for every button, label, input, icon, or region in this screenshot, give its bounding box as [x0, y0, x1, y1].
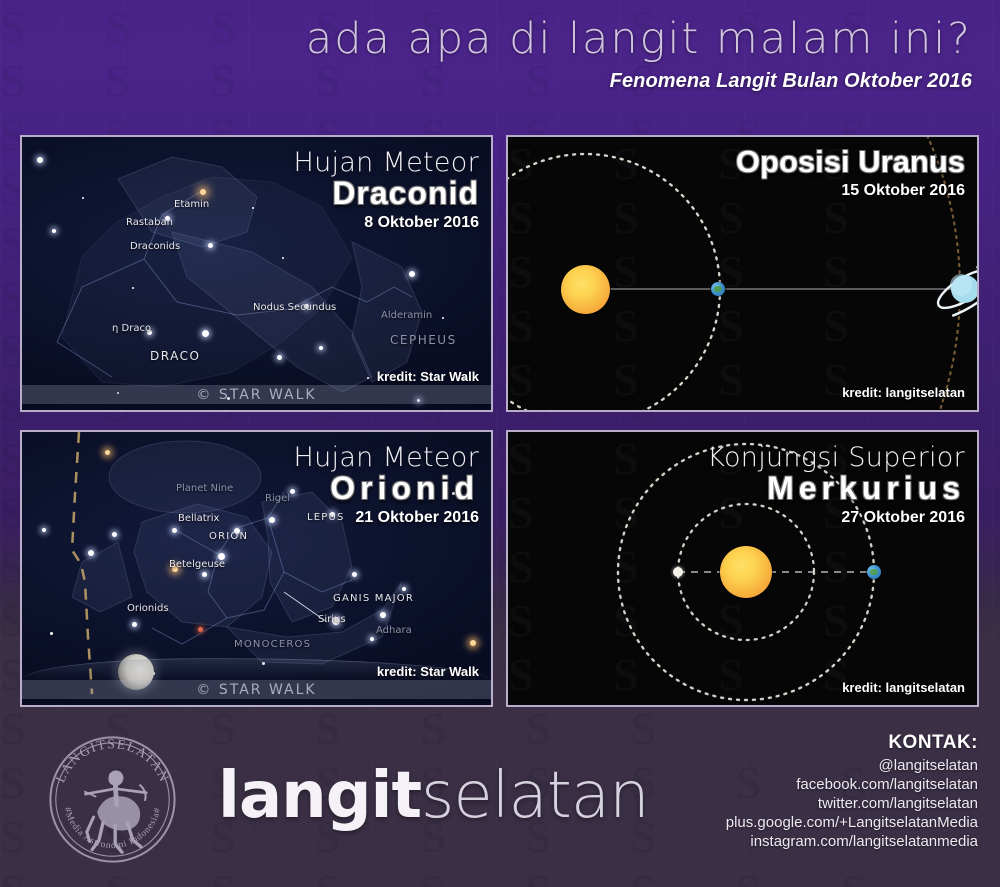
panel-orionid[interactable]: Planet Nine Rigel Bellatrix LEPUS ORION …	[20, 430, 493, 707]
label-eta-draco: η Draco	[112, 323, 151, 334]
panel-konjungsi-merkurius[interactable]: S S S S S S S S S S S S S S S S S S S S …	[506, 430, 979, 707]
star-field-i	[442, 317, 444, 319]
star-field-d	[52, 229, 56, 233]
star-draco-b	[208, 243, 213, 248]
panel-oposisi-uranus[interactable]: S S S S S S S S S S S S S S S S S S S S …	[506, 135, 979, 412]
star-field-g	[252, 207, 254, 209]
page-title: ada apa di langit malam ini?	[0, 14, 972, 64]
panel-title-orionid: Hujan Meteor Orionid 21 Oktober 2016	[294, 442, 479, 527]
panel-title-line1: Konjungsi Superior	[707, 442, 965, 473]
starwalk-watermark-text: © STAR WALK	[196, 682, 316, 698]
star-draco-c	[277, 355, 282, 360]
starwalk-watermark-bar: © STAR WALK	[22, 680, 491, 699]
brand-light: selatan	[421, 759, 649, 833]
earth-body	[711, 282, 725, 296]
star-draco-bright	[202, 330, 209, 337]
label-sirius: Sirius	[318, 614, 346, 625]
panel-title-line2: Orionid	[294, 470, 479, 507]
panel-title-line2: Merkurius	[707, 470, 965, 507]
star-alderamin	[409, 271, 415, 277]
label-nodus-secundus: Nodus Secundus	[253, 302, 336, 313]
panel-date: 21 Oktober 2016	[294, 509, 479, 527]
label-adhara: Adhara	[376, 625, 412, 636]
star-etamin	[200, 189, 206, 195]
label-orionids: Orionids	[127, 603, 169, 614]
label-draconids: Draconids	[130, 241, 180, 252]
panel-credit-draconid: kredit: Star Walk	[377, 369, 479, 384]
panel-title-draconid: Hujan Meteor Draconid 8 Oktober 2016	[294, 147, 479, 232]
mercury-body	[673, 567, 683, 577]
star-field-c	[37, 157, 43, 163]
contact-twitter[interactable]: twitter.com/langitselatan	[726, 794, 978, 813]
label-canis-major: GANIS MAJOR	[333, 593, 414, 604]
panel-grid: Etamin Rastaban Draconids Nodus Secundus…	[20, 135, 980, 707]
uranus-body	[930, 259, 979, 319]
contact-instagram[interactable]: instagram.com/langitselatanmedia	[726, 832, 978, 851]
poster-footer: LANGITSELATAN #Media Astronomi Indonesia…	[0, 712, 1000, 887]
star-field-m	[367, 377, 369, 379]
earth-orbit-path	[508, 154, 720, 412]
label-rastaban: Rastaban	[126, 217, 173, 228]
label-betelgeuse: Betelgeuse	[169, 559, 225, 570]
panel-date: 27 Oktober 2016	[707, 509, 965, 527]
panel-date: 8 Oktober 2016	[294, 214, 479, 232]
contact-handle[interactable]: @langitselatan	[726, 756, 978, 775]
earth-body	[867, 565, 881, 579]
sun-body	[561, 265, 610, 314]
label-cepheus: CEPHEUS	[390, 333, 457, 347]
panel-credit-uranus: kredit: langitselatan	[842, 385, 965, 400]
label-rigel: Rigel	[265, 493, 290, 504]
panel-credit-orionid: kredit: Star Walk	[377, 664, 479, 679]
panel-title-line1: Hujan Meteor	[294, 442, 479, 473]
poster-background: S S S S S S S S S S S S S S S S S S S S …	[0, 0, 1000, 887]
label-draco: DRACO	[150, 349, 200, 363]
star-field-b	[319, 346, 323, 350]
star-field-f	[132, 287, 134, 289]
star-field-n	[282, 257, 284, 259]
panel-title-uranus: Oposisi Uranus 15 Oktober 2016	[736, 147, 965, 200]
sun-body	[720, 546, 772, 598]
label-planet-nine: Planet Nine	[176, 483, 233, 494]
star-field-e	[82, 197, 84, 199]
page-subtitle: Fenomena Langit Bulan Oktober 2016	[0, 70, 972, 93]
starwalk-watermark-bar: © STAR WALK	[22, 385, 491, 404]
poster-header: ada apa di langit malam ini? Fenomena La…	[0, 14, 972, 93]
contact-facebook[interactable]: facebook.com/langitselatan	[726, 775, 978, 794]
panel-draconid[interactable]: Etamin Rastaban Draconids Nodus Secundus…	[20, 135, 493, 412]
panel-title-line2: Draconid	[294, 175, 479, 212]
label-bellatrix: Bellatrix	[178, 513, 219, 524]
label-etamin: Etamin	[174, 199, 209, 210]
panel-title-line1: Hujan Meteor	[294, 147, 479, 178]
panel-title-merkurius: Konjungsi Superior Merkurius 27 Oktober …	[707, 442, 965, 527]
panel-title-line1: Oposisi Uranus	[736, 144, 965, 180]
contact-heading: KONTAK:	[726, 732, 978, 754]
panel-credit-merkurius: kredit: langitselatan	[842, 680, 965, 695]
brand-wordmark: langitselatan	[218, 760, 649, 832]
contact-google-plus[interactable]: plus.google.com/+LangitselatanMedia	[726, 813, 978, 832]
panel-date: 15 Oktober 2016	[736, 182, 965, 200]
brand-bold: langit	[218, 759, 421, 833]
starwalk-watermark-text: © STAR WALK	[196, 387, 316, 403]
contact-block: KONTAK: @langitselatan facebook.com/lang…	[726, 732, 978, 851]
label-orion: ORION	[209, 531, 248, 542]
label-monoceros: MONOCEROS	[234, 639, 311, 650]
langitselatan-logo[interactable]: LANGITSELATAN #Media Astronomi Indonesia…	[45, 732, 180, 867]
label-alderamin: Alderamin	[381, 310, 432, 321]
